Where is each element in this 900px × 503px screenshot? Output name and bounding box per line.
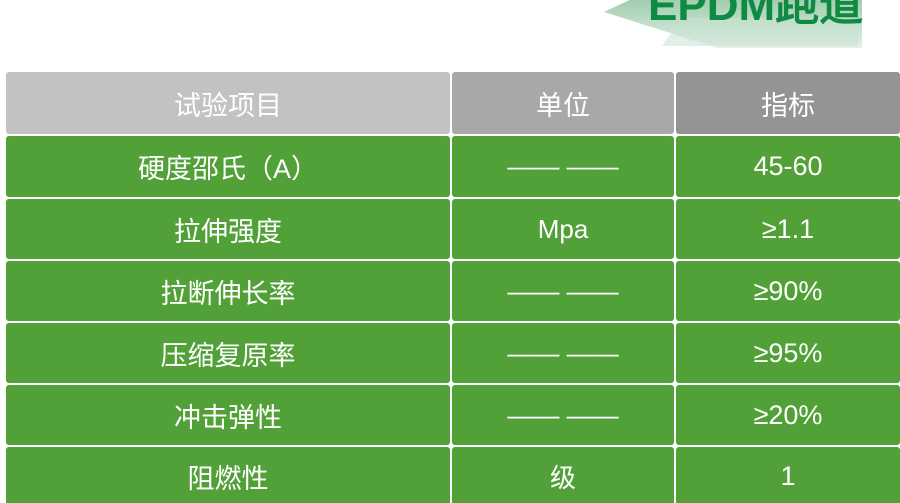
- cell-index: 45-60: [676, 136, 900, 197]
- cell-test-item: 阻燃性: [6, 447, 450, 503]
- cell-index: ≥90%: [676, 261, 900, 321]
- brand-watermark: EPDM跑道: [600, 0, 900, 64]
- table-row: 硬度邵氏（A） —— —— 45-60: [6, 136, 900, 197]
- cell-index: ≥95%: [676, 323, 900, 383]
- brand-logo-text: EPDM跑道: [648, 0, 863, 28]
- cell-unit: —— ——: [452, 261, 674, 321]
- cell-index: ≥20%: [676, 385, 900, 445]
- column-header-unit: 单位: [452, 72, 674, 134]
- table-header-row: 试验项目 单位 指标: [6, 72, 900, 134]
- column-header-index: 指标: [676, 72, 900, 134]
- cell-unit: Mpa: [452, 199, 674, 259]
- table-row: 阻燃性 级 1: [6, 447, 900, 503]
- cell-test-item: 硬度邵氏（A）: [6, 136, 450, 197]
- cell-test-item: 拉断伸长率: [6, 261, 450, 321]
- cell-unit: —— ——: [452, 323, 674, 383]
- cell-index: ≥1.1: [676, 199, 900, 259]
- table-body: 硬度邵氏（A） —— —— 45-60 拉伸强度 Mpa ≥1.1 拉断伸长率 …: [6, 136, 900, 503]
- cell-unit: —— ——: [452, 385, 674, 445]
- table-row: 冲击弹性 —— —— ≥20%: [6, 385, 900, 445]
- cell-test-item: 压缩复原率: [6, 323, 450, 383]
- table-header: 试验项目 单位 指标: [6, 72, 900, 134]
- cell-index: 1: [676, 447, 900, 503]
- specification-table: 试验项目 单位 指标 硬度邵氏（A） —— —— 45-60 拉伸强度 Mpa …: [4, 70, 900, 503]
- watermark-ribbon-shape: [604, 0, 862, 48]
- cell-test-item: 拉伸强度: [6, 199, 450, 259]
- watermark-ribbon-highlight: [662, 18, 858, 46]
- table-row: 压缩复原率 —— —— ≥95%: [6, 323, 900, 383]
- spec-sheet-page: EPDM跑道 试验项目 单位 指标 硬度邵氏（A） —— —— 45-60 拉伸…: [0, 0, 900, 503]
- column-header-test-item: 试验项目: [6, 72, 450, 134]
- table-row: 拉伸强度 Mpa ≥1.1: [6, 199, 900, 259]
- cell-test-item: 冲击弹性: [6, 385, 450, 445]
- table-row: 拉断伸长率 —— —— ≥90%: [6, 261, 900, 321]
- cell-unit: —— ——: [452, 136, 674, 197]
- cell-unit: 级: [452, 447, 674, 503]
